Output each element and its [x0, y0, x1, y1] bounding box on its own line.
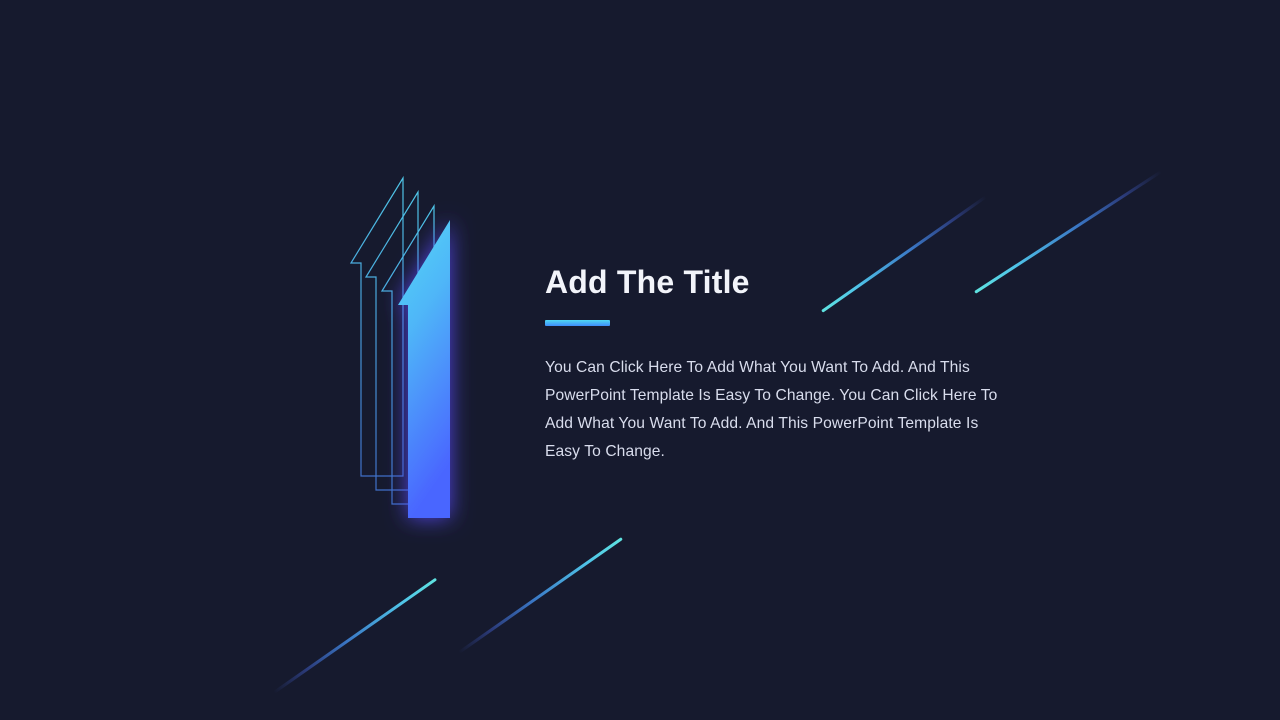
- text-column: Add The Title You Can Click Here To Add …: [545, 262, 1015, 466]
- numeral-svg: [340, 160, 510, 560]
- numeral-fill-shape: [398, 220, 450, 518]
- slide-number-graphic: [340, 160, 500, 550]
- body-paragraph: You Can Click Here To Add What You Want …: [545, 354, 1007, 466]
- slide-canvas: Add The Title You Can Click Here To Add …: [0, 0, 1280, 720]
- numeral-outline-1: [351, 178, 403, 476]
- page-title: Add The Title: [545, 262, 1015, 302]
- streak-bottom-left-1: [273, 578, 437, 694]
- title-underline-accent: [545, 320, 610, 326]
